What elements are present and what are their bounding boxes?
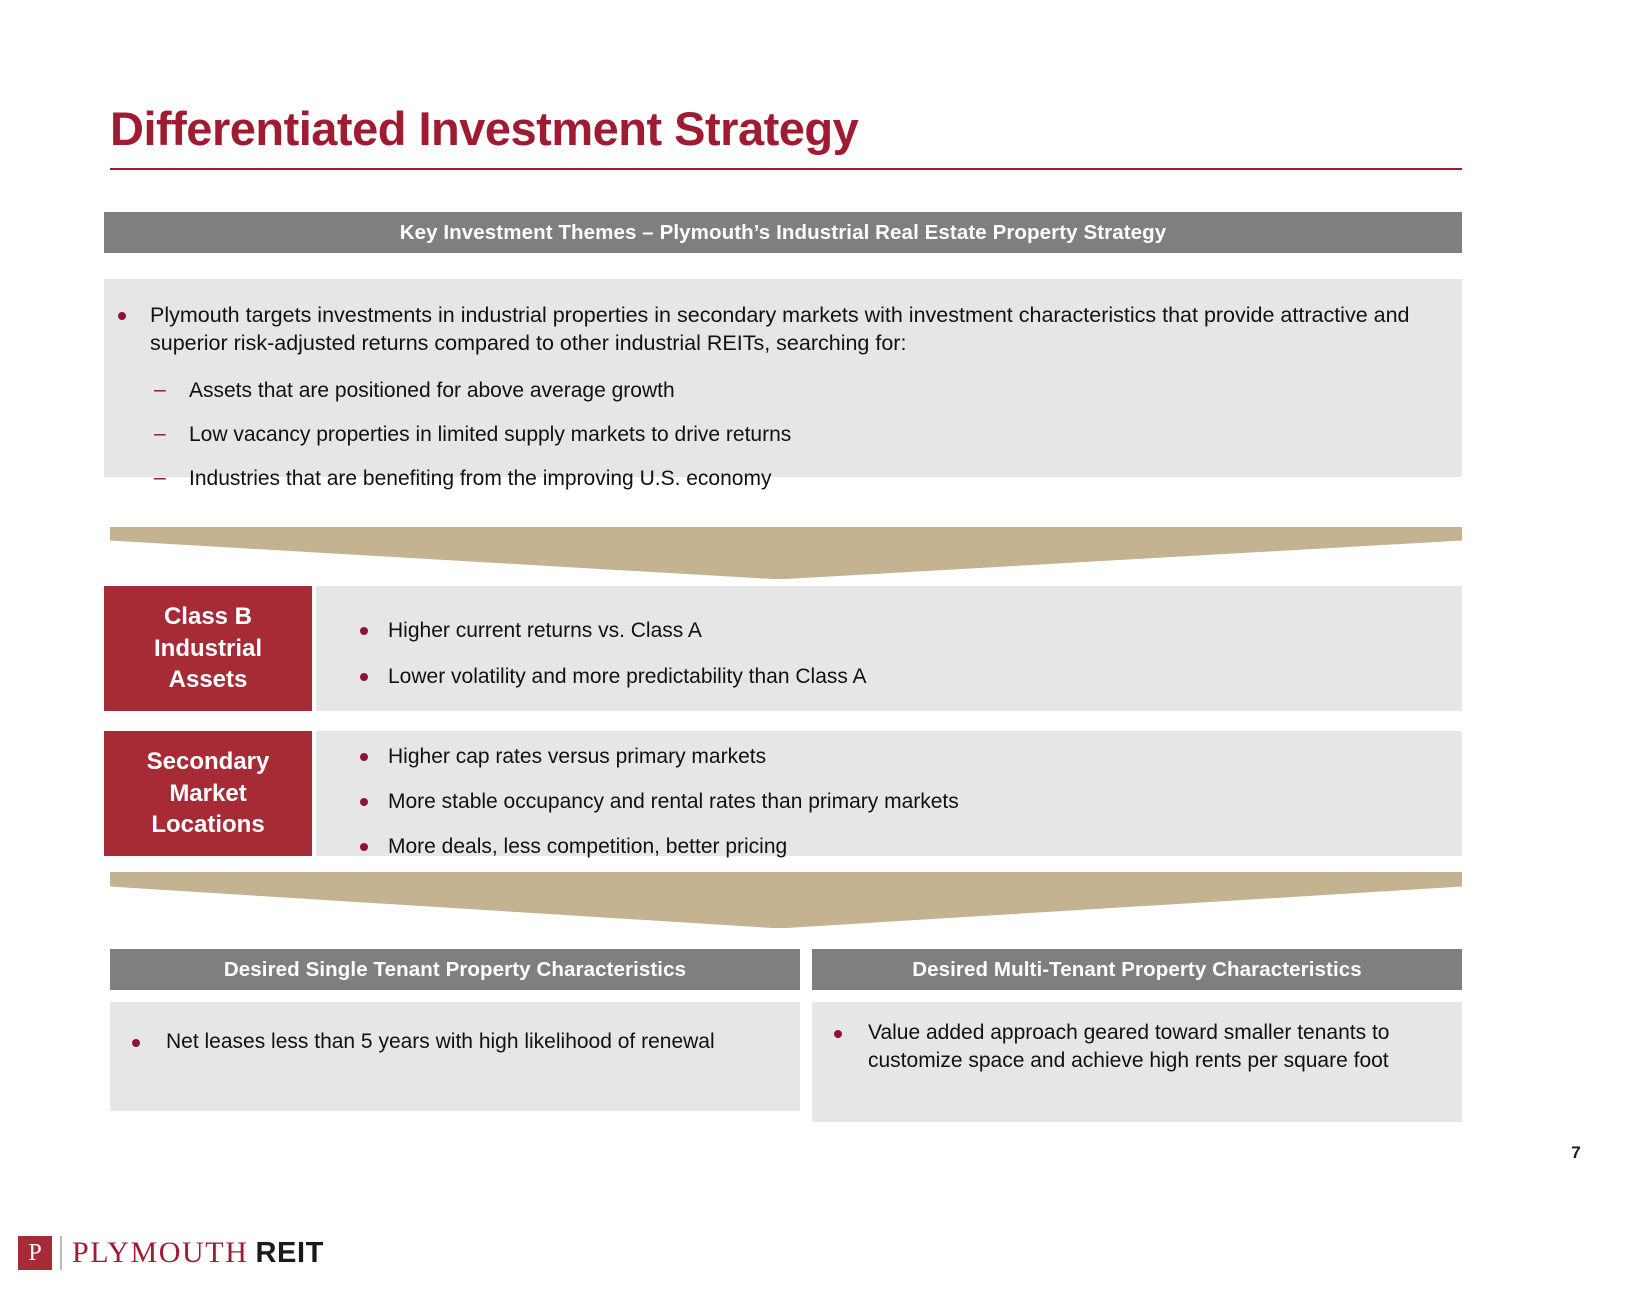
list-item-text: Lower volatility and more predictability… (388, 665, 867, 688)
themes-main-bullet: Plymouth targets investments in industri… (104, 301, 1462, 358)
list-item: More stable occupancy and rental rates t… (316, 789, 1462, 814)
secondary-market-bullet-list: Higher cap rates versus primary markets … (316, 731, 1462, 860)
bullet-dot-icon (118, 312, 126, 320)
class-b-label-line: Class B (164, 601, 252, 633)
list-item-text: Higher cap rates versus primary markets (388, 745, 766, 768)
chevron-down-icon (110, 527, 1462, 579)
dash-bullet-icon: – (154, 421, 166, 448)
bullet-dot-icon (132, 1039, 140, 1047)
list-item-text: Higher current returns vs. Class A (388, 619, 702, 642)
secondary-market-panel: Higher cap rates versus primary markets … (316, 731, 1462, 856)
page-number: 7 (1556, 1143, 1596, 1163)
secondary-label-line: Market (169, 778, 246, 810)
themes-sub-bullet: – Low vacancy properties in limited supp… (104, 422, 1462, 449)
logo-divider (60, 1236, 62, 1270)
bullet-dot-icon (360, 673, 368, 681)
page-title: Differentiated Investment Strategy (110, 104, 858, 153)
list-item-text: Value added approach geared toward small… (868, 1021, 1389, 1072)
list-item-text: More deals, less competition, better pri… (388, 835, 787, 858)
bullet-dot-icon (360, 753, 368, 761)
class-b-panel: Higher current returns vs. Class A Lower… (316, 586, 1462, 711)
class-b-label-line: Industrial (154, 633, 262, 665)
plymouth-reit-logo: P PLYMOUTH REIT (18, 1231, 324, 1275)
themes-sub-bullet: – Industries that are benefiting from th… (104, 466, 1462, 493)
key-investment-themes-header: Key Investment Themes – Plymouth’s Indus… (104, 212, 1462, 253)
logo-mark-icon: P (18, 1236, 52, 1270)
themes-main-bullet-text: Plymouth targets investments in industri… (150, 303, 1410, 355)
desired-multi-tenant-panel: Value added approach geared toward small… (812, 1002, 1462, 1122)
class-b-bullet-list: Higher current returns vs. Class A Lower… (316, 586, 1462, 689)
logo-wordmark-reit: REIT (255, 1237, 323, 1270)
themes-bullet-list: Plymouth targets investments in industri… (104, 279, 1462, 492)
list-item: Value added approach geared toward small… (812, 1019, 1462, 1075)
list-item: Higher cap rates versus primary markets (316, 744, 1462, 769)
themes-sub-bullet-text: Industries that are benefiting from the … (189, 467, 771, 490)
secondary-label-line: Secondary (147, 746, 270, 778)
chevron-down-icon (110, 872, 1462, 928)
logo-wordmark-plymouth: PLYMOUTH (72, 1236, 248, 1270)
themes-sub-bullet-text: Assets that are positioned for above ave… (189, 379, 675, 402)
dash-bullet-icon: – (154, 465, 166, 492)
themes-sub-bullet-text: Low vacancy properties in limited supply… (189, 423, 791, 446)
key-investment-themes-panel: Plymouth targets investments in industri… (104, 279, 1462, 477)
themes-sub-bullet: – Assets that are positioned for above a… (104, 378, 1462, 405)
multi-tenant-bullet-list: Value added approach geared toward small… (812, 1002, 1462, 1075)
class-b-industrial-assets-label: Class B Industrial Assets (104, 586, 312, 711)
list-item-text: Net leases less than 5 years with high l… (166, 1030, 715, 1053)
desired-multi-tenant-header: Desired Multi-Tenant Property Characteri… (812, 949, 1462, 990)
desired-single-tenant-header: Desired Single Tenant Property Character… (110, 949, 800, 990)
list-item-text: More stable occupancy and rental rates t… (388, 790, 959, 813)
secondary-label-line: Locations (151, 809, 264, 841)
single-tenant-bullet-list: Net leases less than 5 years with high l… (110, 1002, 800, 1056)
title-divider (110, 168, 1462, 170)
bullet-dot-icon (360, 843, 368, 851)
class-b-label-line: Assets (169, 664, 248, 696)
secondary-market-locations-label: Secondary Market Locations (104, 731, 312, 856)
list-item: Net leases less than 5 years with high l… (110, 1028, 800, 1056)
bullet-dot-icon (834, 1030, 842, 1038)
list-item: Higher current returns vs. Class A (316, 618, 1462, 643)
bullet-dot-icon (360, 627, 368, 635)
list-item: More deals, less competition, better pri… (316, 834, 1462, 859)
desired-single-tenant-panel: Net leases less than 5 years with high l… (110, 1002, 800, 1111)
bullet-dot-icon (360, 798, 368, 806)
dash-bullet-icon: – (154, 377, 166, 404)
list-item: Lower volatility and more predictability… (316, 664, 1462, 689)
